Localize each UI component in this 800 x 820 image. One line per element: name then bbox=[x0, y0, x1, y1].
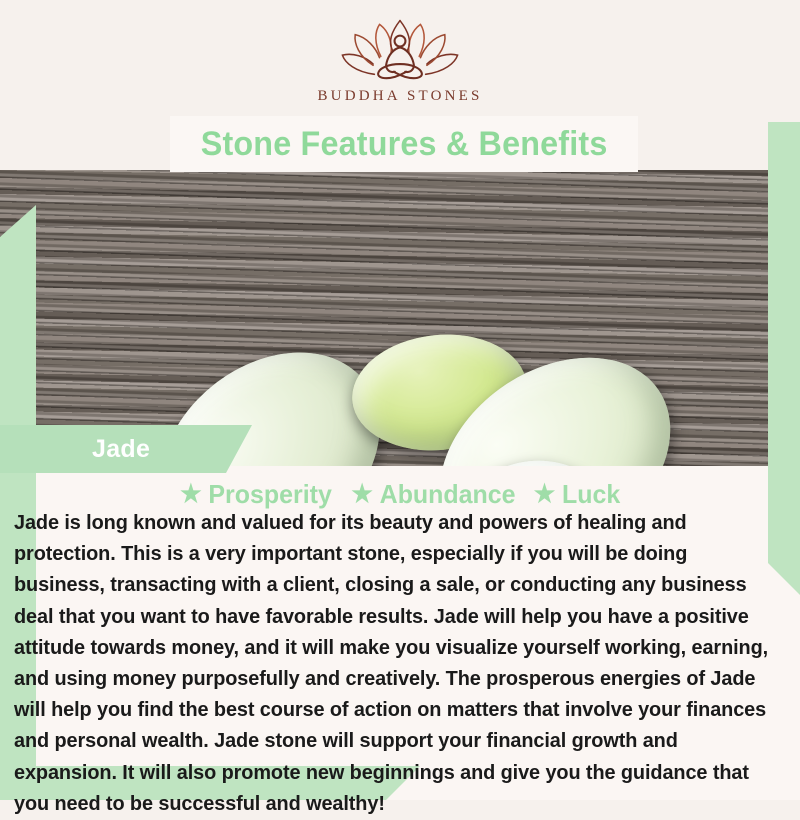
stone-photo bbox=[0, 170, 800, 466]
star-icon: ★ bbox=[181, 482, 203, 507]
star-icon: ★ bbox=[352, 482, 374, 507]
benefits-row: ★ Prosperity ★ Abundance ★ Luck bbox=[0, 479, 800, 510]
benefit-item: ★ Abundance bbox=[352, 479, 516, 510]
benefit-item: ★ Luck bbox=[534, 479, 621, 510]
page-title-band: Stone Features & Benefits bbox=[170, 116, 638, 172]
benefit-label: Prosperity bbox=[209, 479, 332, 510]
benefit-item: ★ Prosperity bbox=[181, 479, 333, 510]
lotus-meditation-icon bbox=[336, 18, 464, 82]
brand-name: BUDDHA STONES bbox=[317, 88, 482, 105]
benefit-label: Abundance bbox=[380, 479, 516, 510]
stone-name-label: Jade bbox=[92, 435, 150, 464]
benefit-label: Luck bbox=[563, 479, 621, 510]
stone-description: Jade is long known and valued for its be… bbox=[14, 508, 776, 820]
brand-header: BUDDHA STONES bbox=[0, 0, 800, 122]
star-icon: ★ bbox=[534, 482, 556, 507]
stone-name-badge: Jade bbox=[0, 425, 252, 473]
page-title: Stone Features & Benefits bbox=[201, 125, 608, 164]
